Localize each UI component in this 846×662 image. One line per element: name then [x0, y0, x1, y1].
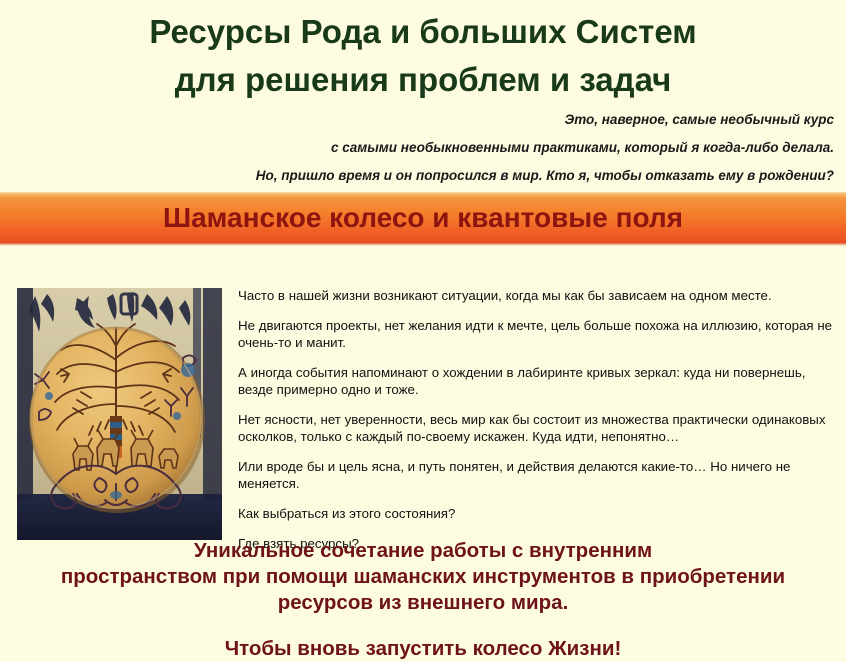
- section-banner: Шаманское колесо и квантовые поля: [0, 192, 846, 243]
- page-title: Ресурсы Рода и больших Систем для решени…: [0, 10, 846, 102]
- shaman-drum-illustration: [17, 288, 222, 540]
- subtitle-line-1: Это, наверное, самые необычный курс: [14, 106, 834, 134]
- closing-line-3: ресурсов из внешнего мира.: [0, 590, 846, 616]
- title-line-1: Ресурсы Рода и больших Систем: [0, 10, 846, 54]
- title-line-2: для решения проблем и задач: [0, 58, 846, 102]
- body-paragraph: Или вроде бы и цель ясна, и путь понятен…: [238, 458, 838, 492]
- body-paragraph: Как выбраться из этого состояния?: [238, 505, 838, 522]
- shaman-drum-photo: [17, 288, 222, 540]
- body-paragraph: А иногда события напоминают о хождении в…: [238, 364, 838, 398]
- closing-line-1: Уникальное сочетание работы с внутренним: [0, 538, 846, 564]
- subtitle-line-2: с самыми необыкновенными практиками, кот…: [14, 134, 834, 162]
- closing-call-to-action: Чтобы вновь запустить колесо Жизни!: [0, 636, 846, 662]
- closing-statement: Уникальное сочетание работы с внутренним…: [0, 538, 846, 662]
- body-paragraph: Часто в нашей жизни возникают ситуации, …: [238, 287, 838, 304]
- subtitle-line-3: Но, пришло время и он попросился в мир. …: [14, 162, 834, 190]
- subtitle: Это, наверное, самые необычный курс с са…: [14, 106, 834, 190]
- section-banner-title: Шаманское колесо и квантовые поля: [163, 203, 683, 233]
- body-paragraph: Нет ясности, нет уверенности, весь мир к…: [238, 411, 838, 445]
- closing-line-2: пространством при помощи шаманских инстр…: [0, 564, 846, 590]
- slide-root: Ресурсы Рода и больших Систем для решени…: [0, 0, 846, 653]
- body-copy: Часто в нашей жизни возникают ситуации, …: [238, 287, 838, 565]
- body-paragraph: Не двигаются проекты, нет желания идти к…: [238, 317, 838, 351]
- section-banner-underline: [0, 243, 846, 246]
